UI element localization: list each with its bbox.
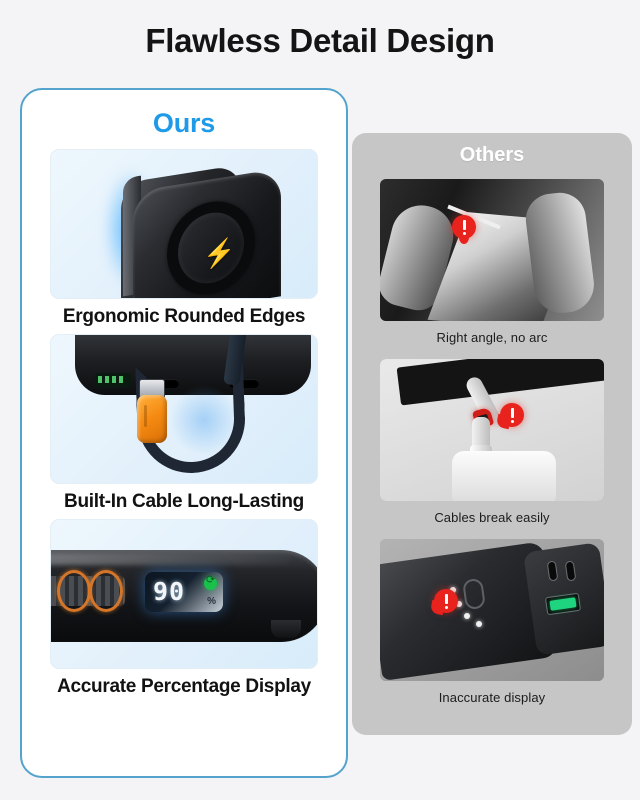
battery-percentage-value: 90 (153, 578, 185, 606)
others-panel: Others Right angle, no arc (352, 133, 632, 735)
others-caption: Right angle, no arc (380, 330, 604, 345)
mini-display-strip (95, 373, 131, 387)
percent-unit-label: % (207, 596, 216, 607)
ours-caption: Ergonomic Rounded Edges (50, 306, 318, 328)
orange-connector-housing (137, 395, 167, 443)
power-bank-foot (271, 620, 301, 638)
dark-background-bar (397, 359, 604, 405)
battery-percentage-screen: 90 % (145, 572, 223, 612)
others-caption: Cables break easily (380, 510, 604, 525)
ours-caption: Built-In Cable Long-Lasting (50, 491, 318, 513)
others-card-list: Right angle, no arc Cables br (352, 179, 632, 705)
warning-exclamation-glyph (445, 594, 448, 604)
others-panel-heading: Others (352, 144, 632, 167)
ours-card-list: ⚡ Ergonomic Rounded Edges Built-In Cable… (22, 149, 346, 698)
ours-panel-heading: Ours (22, 108, 346, 139)
led-power-bank-illustration (380, 539, 604, 681)
ours-image-builtin-cable (50, 334, 318, 484)
ours-card-rounded-edges: ⚡ Ergonomic Rounded Edges (50, 149, 318, 328)
others-caption: Inaccurate display (380, 690, 604, 705)
others-card-right-angle: Right angle, no arc (380, 179, 604, 345)
body-specular-highlight (50, 553, 291, 565)
warning-pin-icon (452, 215, 476, 245)
others-card-cable-break: Cables break easily (380, 359, 604, 525)
grayscale-hands-illustration (380, 179, 604, 321)
ours-image-percentage-display: 90 % (50, 519, 318, 669)
led-dot (464, 613, 470, 619)
led-dot (476, 621, 482, 627)
warning-pin-icon (434, 589, 458, 619)
charger-brick-shape (452, 451, 556, 501)
others-image-cable-break (380, 359, 604, 501)
others-card-inaccurate-display: Inaccurate display (380, 539, 604, 705)
ours-card-builtin-cable: Built-In Cable Long-Lasting (50, 334, 318, 513)
warning-exclamation-glyph (463, 220, 466, 230)
ours-card-percentage-display: 90 % Accurate Percentage Display (50, 519, 318, 698)
lightning-bolt-icon: ⚡ (203, 237, 235, 268)
others-image-right-angle (380, 179, 604, 321)
page-title: Flawless Detail Design (0, 22, 640, 60)
ours-image-rounded-edges: ⚡ (50, 149, 318, 299)
orange-cable-ring (57, 570, 91, 612)
others-image-inaccurate-display (380, 539, 604, 681)
ours-panel: Ours ⚡ Ergonomic Rounded Edges (20, 88, 348, 778)
charging-recycle-icon (204, 577, 217, 590)
warning-exclamation-glyph (511, 408, 514, 418)
broken-cable-illustration (380, 359, 604, 501)
warning-pin-icon (500, 403, 524, 433)
orange-cable-ring (89, 570, 123, 612)
ours-caption: Accurate Percentage Display (50, 676, 318, 698)
